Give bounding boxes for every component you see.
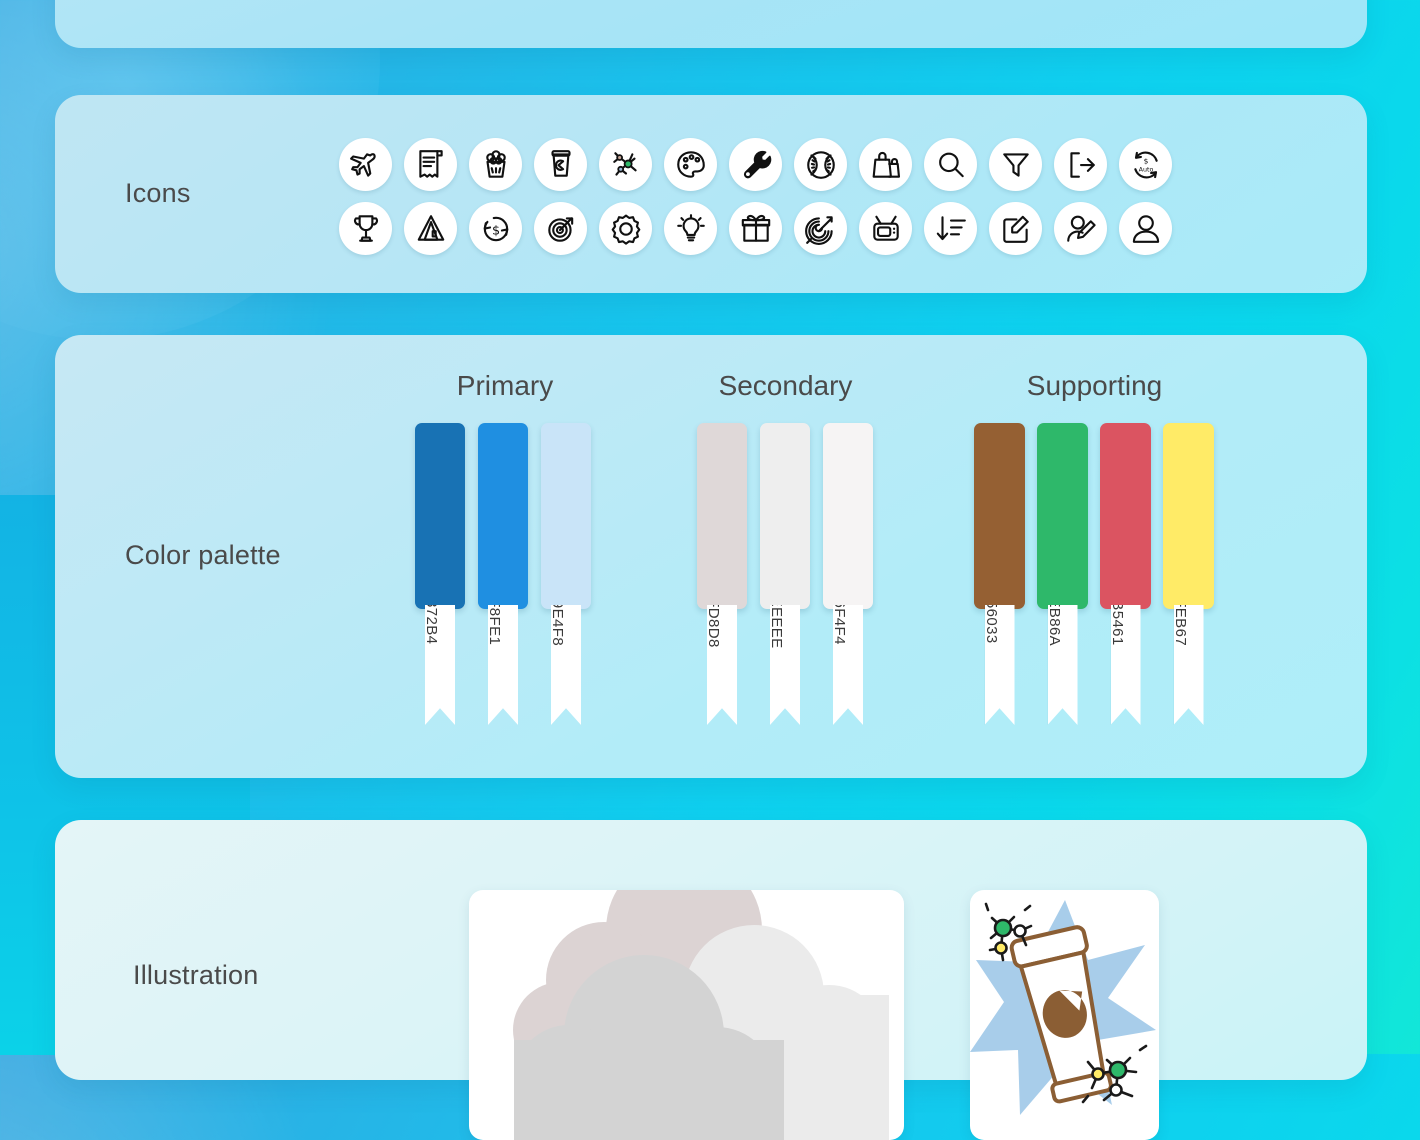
color-hex-label: #EEEEEE [770, 605, 785, 649]
color-swatch-chip [760, 423, 810, 609]
color-hex-label: #1872B4 [425, 605, 440, 644]
filter-icon[interactable] [989, 138, 1042, 191]
baseball-icon[interactable] [794, 138, 847, 191]
icon-grid: $Auto$ [339, 138, 1184, 266]
gear-icon[interactable] [599, 202, 652, 255]
sort-descending-icon[interactable] [924, 202, 977, 255]
color-hex-label: #F6F4F4 [833, 605, 848, 645]
color-swatch[interactable]: #DB5461 [1100, 423, 1151, 609]
color-hex-tag: #DFD8D8 [707, 605, 737, 725]
color-swatch-chip [1100, 423, 1151, 609]
swatch-row: #1872B4#1F8FE1#C9E4F8 [415, 423, 604, 609]
swatch-row: #956033#2EB86A#DB5461#FFEB67 [974, 423, 1226, 609]
color-hex-tag: #DB5461 [1111, 605, 1141, 725]
color-hex-label: #1F8FE1 [488, 605, 503, 645]
color-hex-tag: #EEEEEE [770, 605, 800, 725]
section-label-icons: Icons [125, 178, 191, 209]
color-swatch-chip [974, 423, 1025, 609]
color-swatch[interactable]: #F6F4F4 [823, 423, 873, 609]
color-hex-tag: #FFEB67 [1174, 605, 1204, 725]
clouds-illustration [469, 890, 904, 1140]
logout-icon[interactable] [1054, 138, 1107, 191]
color-swatch[interactable]: #2EB86A [1037, 423, 1088, 609]
card-top-partial [55, 0, 1367, 48]
shopping-bags-icon[interactable] [859, 138, 912, 191]
color-swatch[interactable]: #956033 [974, 423, 1025, 609]
svg-text:Auto: Auto [1138, 165, 1153, 173]
svg-text:$: $ [491, 223, 499, 238]
color-hex-label: #2EB86A [1048, 605, 1063, 646]
airplane-icon[interactable] [339, 138, 392, 191]
svg-text:$: $ [1143, 156, 1148, 165]
auto-refund-icon[interactable]: $Auto [1119, 138, 1172, 191]
palette-group-title: Supporting [1027, 370, 1162, 402]
color-hex-tag: #1872B4 [425, 605, 455, 725]
color-swatch-chip [478, 423, 528, 609]
lightbulb-icon[interactable] [664, 202, 717, 255]
color-swatch[interactable]: #FFEB67 [1163, 423, 1214, 609]
color-hex-tag: #F6F4F4 [833, 605, 863, 725]
color-swatch[interactable]: #1F8FE1 [478, 423, 528, 609]
user-icon[interactable] [1119, 202, 1172, 255]
color-swatch[interactable]: #EEEEEE [760, 423, 810, 609]
money-refresh-icon[interactable]: $ [469, 202, 522, 255]
target-arrow-icon[interactable] [534, 202, 587, 255]
television-icon[interactable] [859, 202, 912, 255]
swatch-row: #DFD8D8#EEEEEE#F6F4F4 [697, 423, 886, 609]
color-hex-tag: #C9E4F8 [551, 605, 581, 725]
network-nodes-icon[interactable] [599, 138, 652, 191]
color-swatch-chip [823, 423, 873, 609]
color-swatch[interactable]: #DFD8D8 [697, 423, 747, 609]
wrench-icon[interactable] [729, 138, 782, 191]
color-hex-tag: #2EB86A [1048, 605, 1078, 725]
house-icon[interactable] [404, 202, 457, 255]
color-hex-tag: #1F8FE1 [488, 605, 518, 725]
color-swatch-chip [697, 423, 747, 609]
trophy-icon[interactable] [339, 202, 392, 255]
palette-group-title: Primary [457, 370, 553, 402]
color-swatch-chip [541, 423, 591, 609]
edit-profile-icon[interactable] [1054, 202, 1107, 255]
popcorn-icon[interactable] [469, 138, 522, 191]
color-hex-label: #FFEB67 [1174, 605, 1189, 646]
color-hex-label: #956033 [985, 605, 1000, 644]
receipt-icon[interactable] [404, 138, 457, 191]
color-swatch[interactable]: #1872B4 [415, 423, 465, 609]
palette-icon[interactable] [664, 138, 717, 191]
color-swatch-chip [1037, 423, 1088, 609]
color-swatch-chip [1163, 423, 1214, 609]
color-hex-label: #C9E4F8 [551, 605, 566, 646]
coffee-cup-illustration [970, 890, 1159, 1140]
edit-note-icon[interactable] [989, 202, 1042, 255]
gift-icon[interactable] [729, 202, 782, 255]
color-hex-tag: #956033 [985, 605, 1015, 725]
palette-group-title: Secondary [719, 370, 853, 402]
color-hex-label: #DFD8D8 [707, 605, 722, 648]
color-swatch[interactable]: #C9E4F8 [541, 423, 591, 609]
dartboard-icon[interactable] [794, 202, 847, 255]
coffee-cup-icon[interactable] [534, 138, 587, 191]
section-label-color-palette: Color palette [125, 540, 281, 571]
section-label-illustration: Illustration [133, 960, 258, 991]
search-icon[interactable] [924, 138, 977, 191]
color-swatch-chip [415, 423, 465, 609]
color-hex-label: #DB5461 [1111, 605, 1126, 646]
